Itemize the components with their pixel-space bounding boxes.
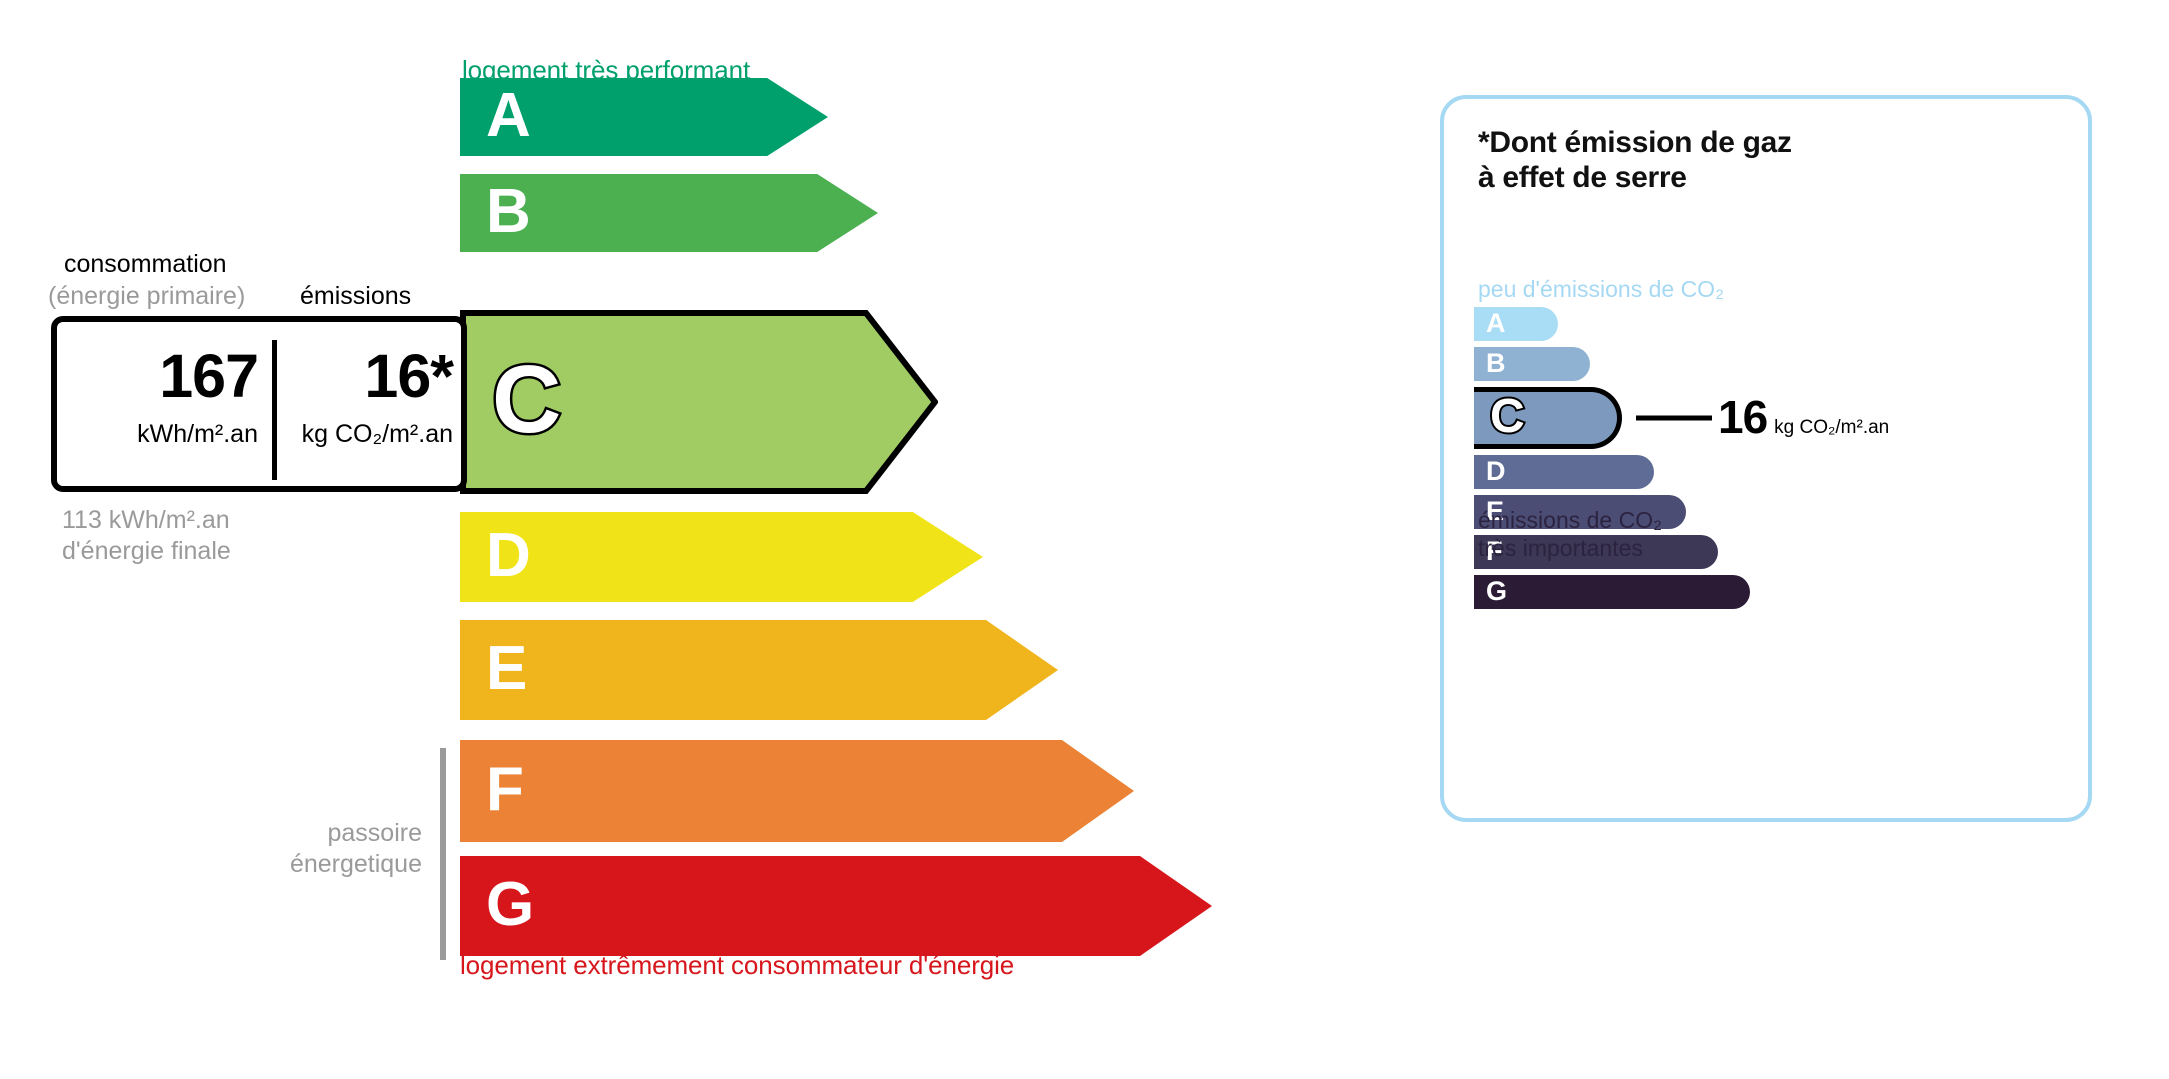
final-energy-note: 113 kWh/m².an d'énergie finale xyxy=(62,505,231,568)
emissions-header: émissions xyxy=(300,282,411,311)
energy-bar-letter-e: E xyxy=(486,638,527,700)
energy-bar-shape-g xyxy=(460,856,1212,956)
scale-bottom-caption: logement extrêmement consommateur d'éner… xyxy=(460,950,1014,981)
energy-bar-shape-d xyxy=(460,512,983,602)
co2-bar-letter-b: B xyxy=(1486,350,1506,377)
co2-value-number: 16 xyxy=(1718,391,1767,443)
passoire-line-2: énergetique xyxy=(290,850,422,878)
co2-value-unit: kg CO₂/m².an xyxy=(1774,417,1889,438)
energy-bar-shape-f xyxy=(460,740,1134,842)
emission-value-cell: 16* kg CO₂/m².an xyxy=(277,322,467,486)
energy-bar-c: C xyxy=(460,310,938,494)
energy-bar-a: A xyxy=(460,78,828,156)
energy-bar-letter-f: F xyxy=(486,759,524,821)
energy-bar-f: F xyxy=(460,740,1134,842)
co2-emissions-panel: *Dont émission de gaz à effet de serre p… xyxy=(1440,95,2092,822)
energy-bar-shape-e xyxy=(460,620,1058,720)
co2-title-line-2: à effet de serre xyxy=(1478,161,1687,194)
consumption-unit: kWh/m².an xyxy=(57,422,258,447)
energy-bar-d: D xyxy=(460,512,983,602)
passoire-energetique-rule xyxy=(440,748,446,960)
co2-bar-letter-c: C xyxy=(1490,393,1525,441)
co2-panel-title: *Dont émission de gaz à effet de serre xyxy=(1478,125,1792,196)
energy-bar-e: E xyxy=(460,620,1058,720)
co2-bar-letter-g: G xyxy=(1486,578,1507,605)
final-energy-label: d'énergie finale xyxy=(62,537,231,565)
co2-bottom-line-2: très importantes xyxy=(1478,535,1643,561)
consommation-header: consommation xyxy=(64,250,227,279)
co2-bar-letter-a: A xyxy=(1486,310,1506,337)
co2-title-line-1: *Dont émission de gaz xyxy=(1478,126,1792,159)
emission-value: 16* xyxy=(277,346,453,407)
energy-bar-letter-a: A xyxy=(486,85,531,147)
energy-bar-letter-d: D xyxy=(486,525,531,587)
measured-values-box: 167 kWh/m².an 16* kg CO₂/m².an xyxy=(51,316,467,492)
consumption-value: 167 xyxy=(57,346,258,407)
co2-bottom-line-1: émissions de CO₂ xyxy=(1478,507,1662,533)
co2-value-callout: 16kg CO₂/m².an xyxy=(1718,394,1889,440)
co2-bar-g xyxy=(1474,575,1750,609)
passoire-line-1: passoire xyxy=(328,819,423,847)
energy-bar-letter-g: G xyxy=(486,874,534,936)
energy-bar-b: B xyxy=(460,174,878,252)
final-energy-value: 113 kWh/m².an xyxy=(62,506,230,534)
energy-bar-g: G xyxy=(460,856,1212,956)
energy-bar-letter-c: C xyxy=(492,352,561,448)
energy-bar-letter-b: B xyxy=(486,181,531,243)
energy-performance-scale: logement très performant ABCDEFG logemen… xyxy=(0,0,1400,1079)
co2-value-leader-line xyxy=(1636,416,1712,421)
co2-top-caption: peu d'émissions de CO₂ xyxy=(1478,276,1724,303)
co2-bar-letter-d: D xyxy=(1486,458,1506,485)
co2-bottom-caption: émissions de CO₂ très importantes xyxy=(1478,507,1662,562)
passoire-energetique-label: passoire énergetique xyxy=(200,818,422,881)
emission-unit: kg CO₂/m².an xyxy=(277,422,453,447)
energie-primaire-header: (énergie primaire) xyxy=(48,282,245,311)
consumption-value-cell: 167 kWh/m².an xyxy=(57,322,272,486)
